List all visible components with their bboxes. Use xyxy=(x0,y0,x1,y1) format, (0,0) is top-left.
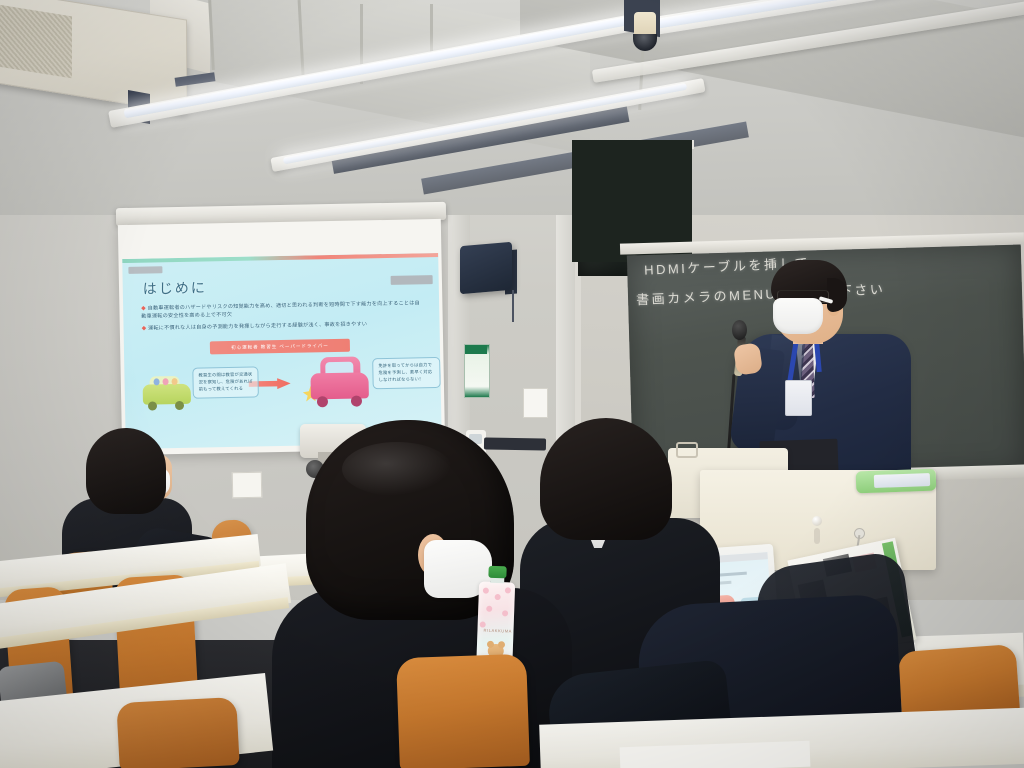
id-badge xyxy=(785,380,812,416)
presenter-hair-side xyxy=(827,278,847,312)
slide-highlight-banner: 初心運転者 教習生 ペーパードライバー xyxy=(210,339,350,355)
wall-speaker xyxy=(460,242,512,295)
bullet-marker-icon-2: ◆ xyxy=(141,326,146,332)
chair[interactable] xyxy=(396,654,530,768)
pink-car-wheel xyxy=(317,396,328,407)
green-safety-notice-header xyxy=(465,345,487,354)
microphone-icon xyxy=(732,320,747,340)
presenter-hand xyxy=(733,342,763,375)
podium-knob[interactable] xyxy=(812,516,822,526)
pink-car-illustration xyxy=(306,354,371,411)
slide-tag-left xyxy=(128,266,162,274)
slide-banner-text: 初心運転者 教習生 ペーパードライバー xyxy=(231,343,329,351)
podium-latch[interactable] xyxy=(814,528,820,544)
water-bottle[interactable]: RILAKKUMA xyxy=(476,565,515,666)
passenger-head-icon xyxy=(163,378,169,385)
green-car-illustration xyxy=(140,370,193,413)
slide-tag-right xyxy=(391,275,433,285)
water-bottle-cap[interactable] xyxy=(488,566,506,579)
slide-callout-left: 教習生の間は教官が交通状況を察知し、危険があれば前もって教えてくれる xyxy=(192,366,259,398)
face-mask xyxy=(773,298,823,334)
wet-wipes-label xyxy=(874,473,930,488)
speaker-cable xyxy=(512,290,514,322)
student-left-hair xyxy=(86,428,166,514)
passenger-head-icon xyxy=(154,378,160,385)
slide-bullet-1-text: 自動車運転者のハザードやリスクの知覚能力を高め、適切と思われる判断を短時間で下す… xyxy=(141,300,420,320)
bullet-marker-icon: ◆ xyxy=(141,306,146,312)
slide-bullet-2-text: 運転に不慣れな人は自身の予測能力を発揮しながら走行する経験が浅く、事故を招きやす… xyxy=(148,321,367,331)
wall-notice-left xyxy=(232,472,262,499)
wall-notice-center xyxy=(523,388,548,418)
ac-grille xyxy=(0,4,72,79)
slide-callout-right: 免許を取ってからは自力で危険を予測し、素早く対応しなければならない！ xyxy=(372,357,441,389)
slide-bullet-2: ◆ 運転に不慣れな人は自身の予測能力を発揮しながら走行する経験が浅く、事故を招き… xyxy=(141,319,425,334)
pink-car-body xyxy=(310,372,368,399)
water-bottle-label: RILAKKUMA xyxy=(483,628,512,634)
lecture-hall-photo: はじめに ◆ 自動車運転者のハザードやリスクの知覚能力を高め、適切と思われる判断… xyxy=(0,0,1024,768)
slide-bullet-1: ◆ 自動車運転者のハザードやリスクの知覚能力を高め、適切と思われる判断を短時間で… xyxy=(141,299,425,322)
chair[interactable] xyxy=(116,697,239,768)
passenger-head-icon xyxy=(172,378,178,385)
green-car-wheel xyxy=(148,401,157,410)
student-center-hair-highlight xyxy=(342,442,452,496)
green-car-wheel xyxy=(175,401,184,410)
ceiling xyxy=(0,0,1024,215)
slide-title: はじめに xyxy=(143,277,207,298)
pink-car-wheel xyxy=(351,395,362,406)
